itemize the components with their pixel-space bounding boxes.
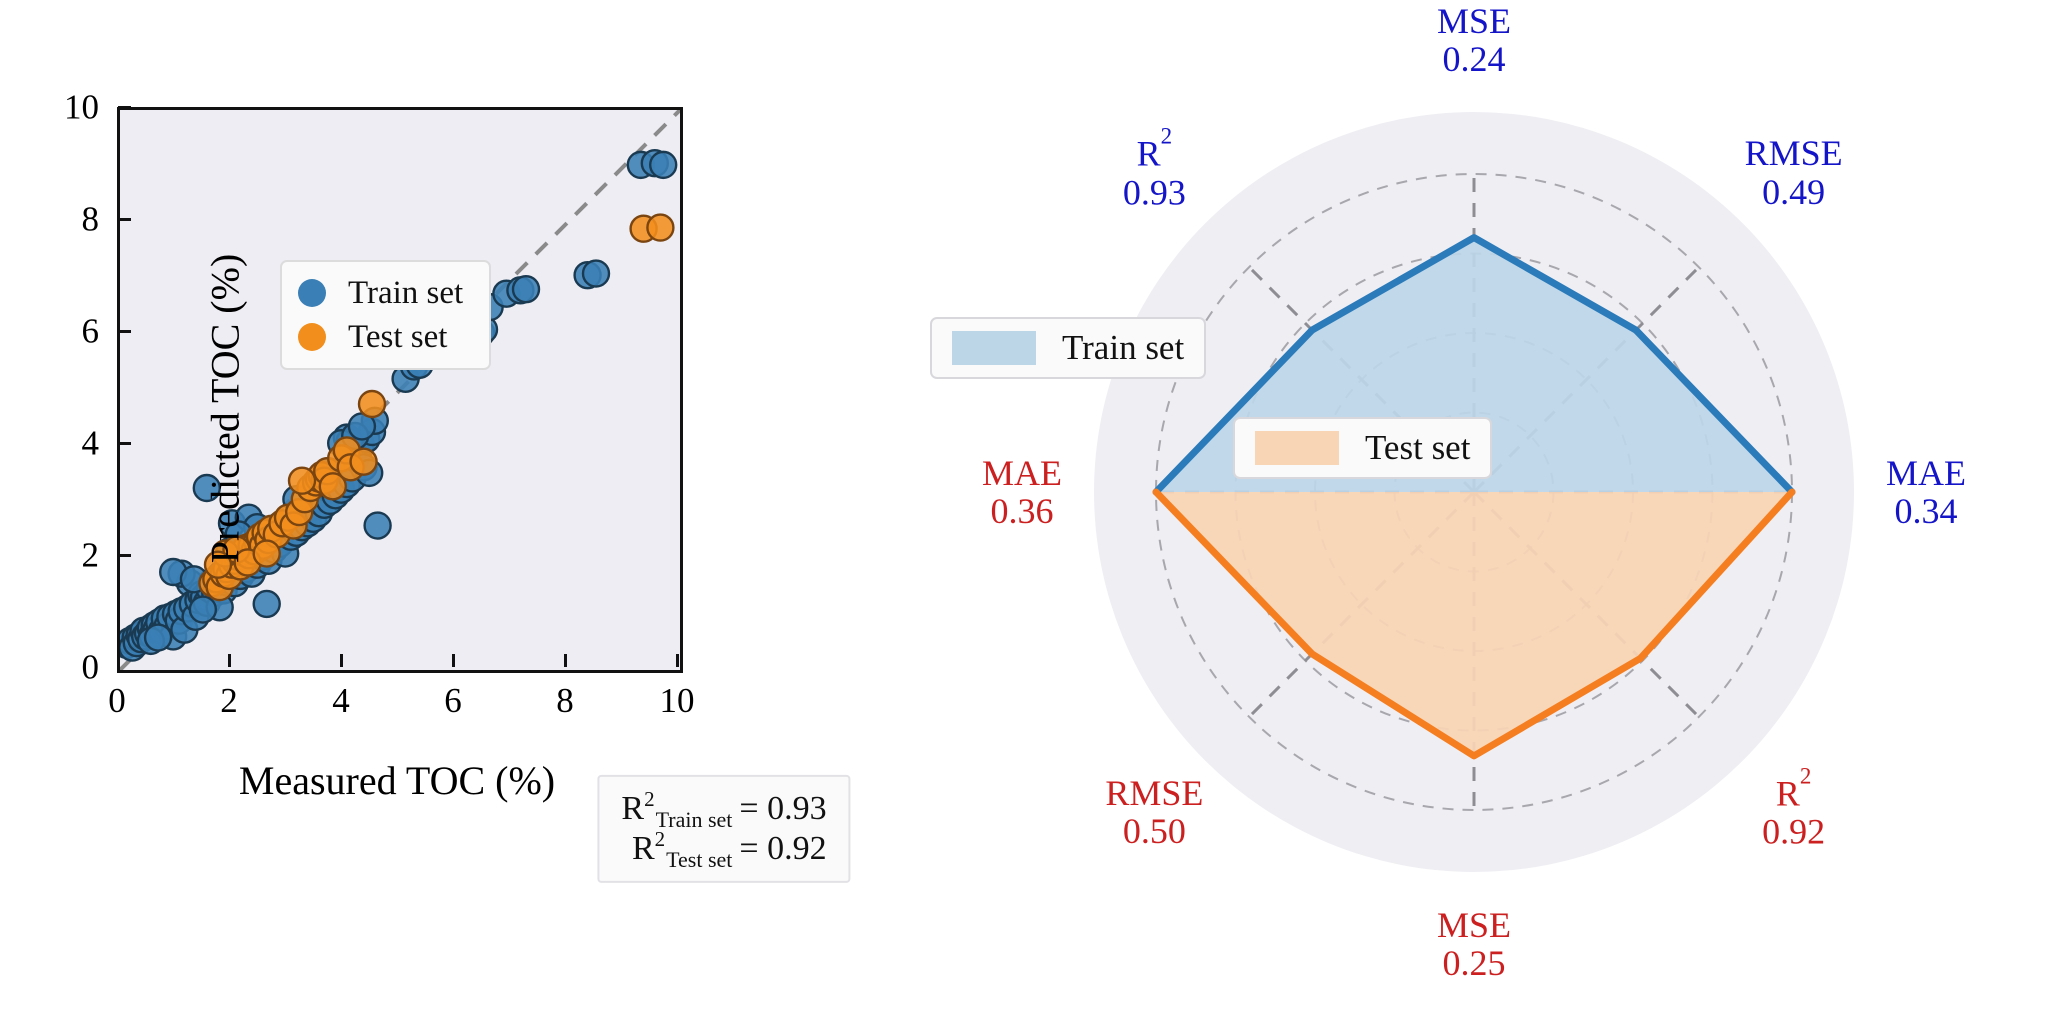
- scatter-point: [583, 261, 609, 287]
- x-tick-label: 8: [535, 683, 595, 718]
- radar-label-superscript: 2: [1161, 124, 1173, 149]
- radar-label-superscript: 2: [1800, 763, 1812, 788]
- y-tick-mark: [118, 330, 131, 333]
- y-tick-label: 4: [39, 426, 99, 461]
- radar-legend-swatch-test: [1255, 431, 1339, 465]
- radar-label-metric: R2: [1123, 134, 1186, 173]
- radar-legend-label-test: Test set: [1365, 428, 1470, 468]
- y-tick-label: 0: [39, 650, 99, 685]
- x-tick-mark: [676, 654, 679, 667]
- x-tick-label: 6: [423, 683, 483, 718]
- x-tick-label: 4: [311, 683, 371, 718]
- radar-label-r-0.93: R20.93: [1123, 134, 1186, 211]
- y-tick-label: 8: [39, 202, 99, 237]
- scatter-point: [254, 591, 280, 617]
- radar-label-metric: RMSE: [1745, 134, 1843, 172]
- radar-canvas: [900, 0, 2048, 1019]
- radar-label-mae-0.34: MAE0.34: [1886, 454, 1966, 530]
- scatter-point: [359, 391, 385, 417]
- x-tick-mark: [340, 654, 343, 667]
- metric-line-test: R2Test set= 0.92: [621, 829, 826, 869]
- radar-label-value: 0.34: [1886, 492, 1966, 530]
- scatter-panel: Train set Test set R2Train set= 0.93 R2T…: [0, 0, 900, 1019]
- radar-panel: MSE0.24RMSE0.49R20.93MAE0.34MAE0.36RMSE0…: [900, 0, 2048, 1019]
- scatter-point: [289, 468, 315, 494]
- y-tick-mark: [118, 218, 131, 221]
- radar-label-mse-0.24: MSE0.24: [1437, 2, 1511, 78]
- radar-label-value: 0.24: [1437, 40, 1511, 78]
- radar-label-value: 0.50: [1105, 812, 1203, 850]
- metric-subscript-test: Test set: [666, 847, 732, 873]
- scatter-legend[interactable]: Train set Test set: [280, 260, 491, 370]
- metric-base-test: R: [632, 829, 655, 869]
- radar-label-metric: MSE: [1437, 2, 1511, 40]
- radar-label-metric: MAE: [982, 454, 1062, 492]
- radar-label-rmse-0.49: RMSE0.49: [1745, 134, 1843, 210]
- metric-subscript-train: Train set: [656, 807, 733, 833]
- legend-label-train: Train set: [348, 275, 463, 312]
- x-tick-mark: [228, 654, 231, 667]
- x-tick-mark: [452, 654, 455, 667]
- x-tick-label: 0: [87, 683, 147, 718]
- y-tick-mark: [118, 106, 131, 109]
- x-tick-mark: [564, 654, 567, 667]
- radar-legend-test[interactable]: Test set: [1233, 417, 1492, 479]
- legend-label-test: Test set: [348, 319, 447, 356]
- legend-marker-test: [298, 323, 326, 351]
- scatter-point: [254, 541, 280, 567]
- radar-label-mae-0.36: MAE0.36: [982, 454, 1062, 530]
- metric-value-test: = 0.92: [739, 829, 826, 869]
- radar-label-metric: R2: [1762, 773, 1825, 812]
- radar-label-rmse-0.50: RMSE0.50: [1105, 773, 1203, 849]
- y-tick-label: 10: [39, 90, 99, 125]
- radar-label-value: 0.49: [1745, 172, 1843, 210]
- radar-label-value: 0.36: [982, 492, 1062, 530]
- x-tick-label: 2: [199, 683, 259, 718]
- radar-legend-train[interactable]: Train set: [930, 317, 1206, 379]
- radar-label-value: 0.25: [1437, 944, 1511, 982]
- y-axis-label: Predicted TOC (%): [202, 174, 249, 644]
- y-tick-label: 2: [39, 538, 99, 573]
- radar-label-metric: MAE: [1886, 454, 1966, 492]
- legend-item-train[interactable]: Train set: [298, 271, 463, 315]
- radar-label-mse-0.25: MSE0.25: [1437, 906, 1511, 982]
- legend-item-test[interactable]: Test set: [298, 315, 463, 359]
- radar-label-metric: MSE: [1437, 906, 1511, 944]
- radar-label-r-0.92: R20.92: [1762, 773, 1825, 850]
- metric-value-train: = 0.93: [739, 789, 826, 829]
- scatter-point: [365, 513, 391, 539]
- metric-superscript-test: 2: [655, 827, 666, 852]
- x-tick-label: 10: [647, 683, 707, 718]
- legend-marker-train: [298, 279, 326, 307]
- radar-label-value: 0.93: [1123, 173, 1186, 211]
- scatter-point: [647, 215, 673, 241]
- scatter-point: [513, 276, 539, 302]
- radar-label-metric: RMSE: [1105, 773, 1203, 811]
- radar-legend-swatch-train: [952, 331, 1036, 365]
- scatter-point: [650, 152, 676, 178]
- y-tick-label: 6: [39, 314, 99, 349]
- y-tick-mark: [118, 442, 131, 445]
- radar-label-value: 0.92: [1762, 812, 1825, 850]
- y-tick-mark: [118, 554, 131, 557]
- radar-legend-label-train: Train set: [1062, 328, 1184, 368]
- scatter-point: [145, 625, 171, 651]
- scatter-point: [351, 449, 377, 475]
- x-axis-label: Measured TOC (%): [117, 757, 677, 804]
